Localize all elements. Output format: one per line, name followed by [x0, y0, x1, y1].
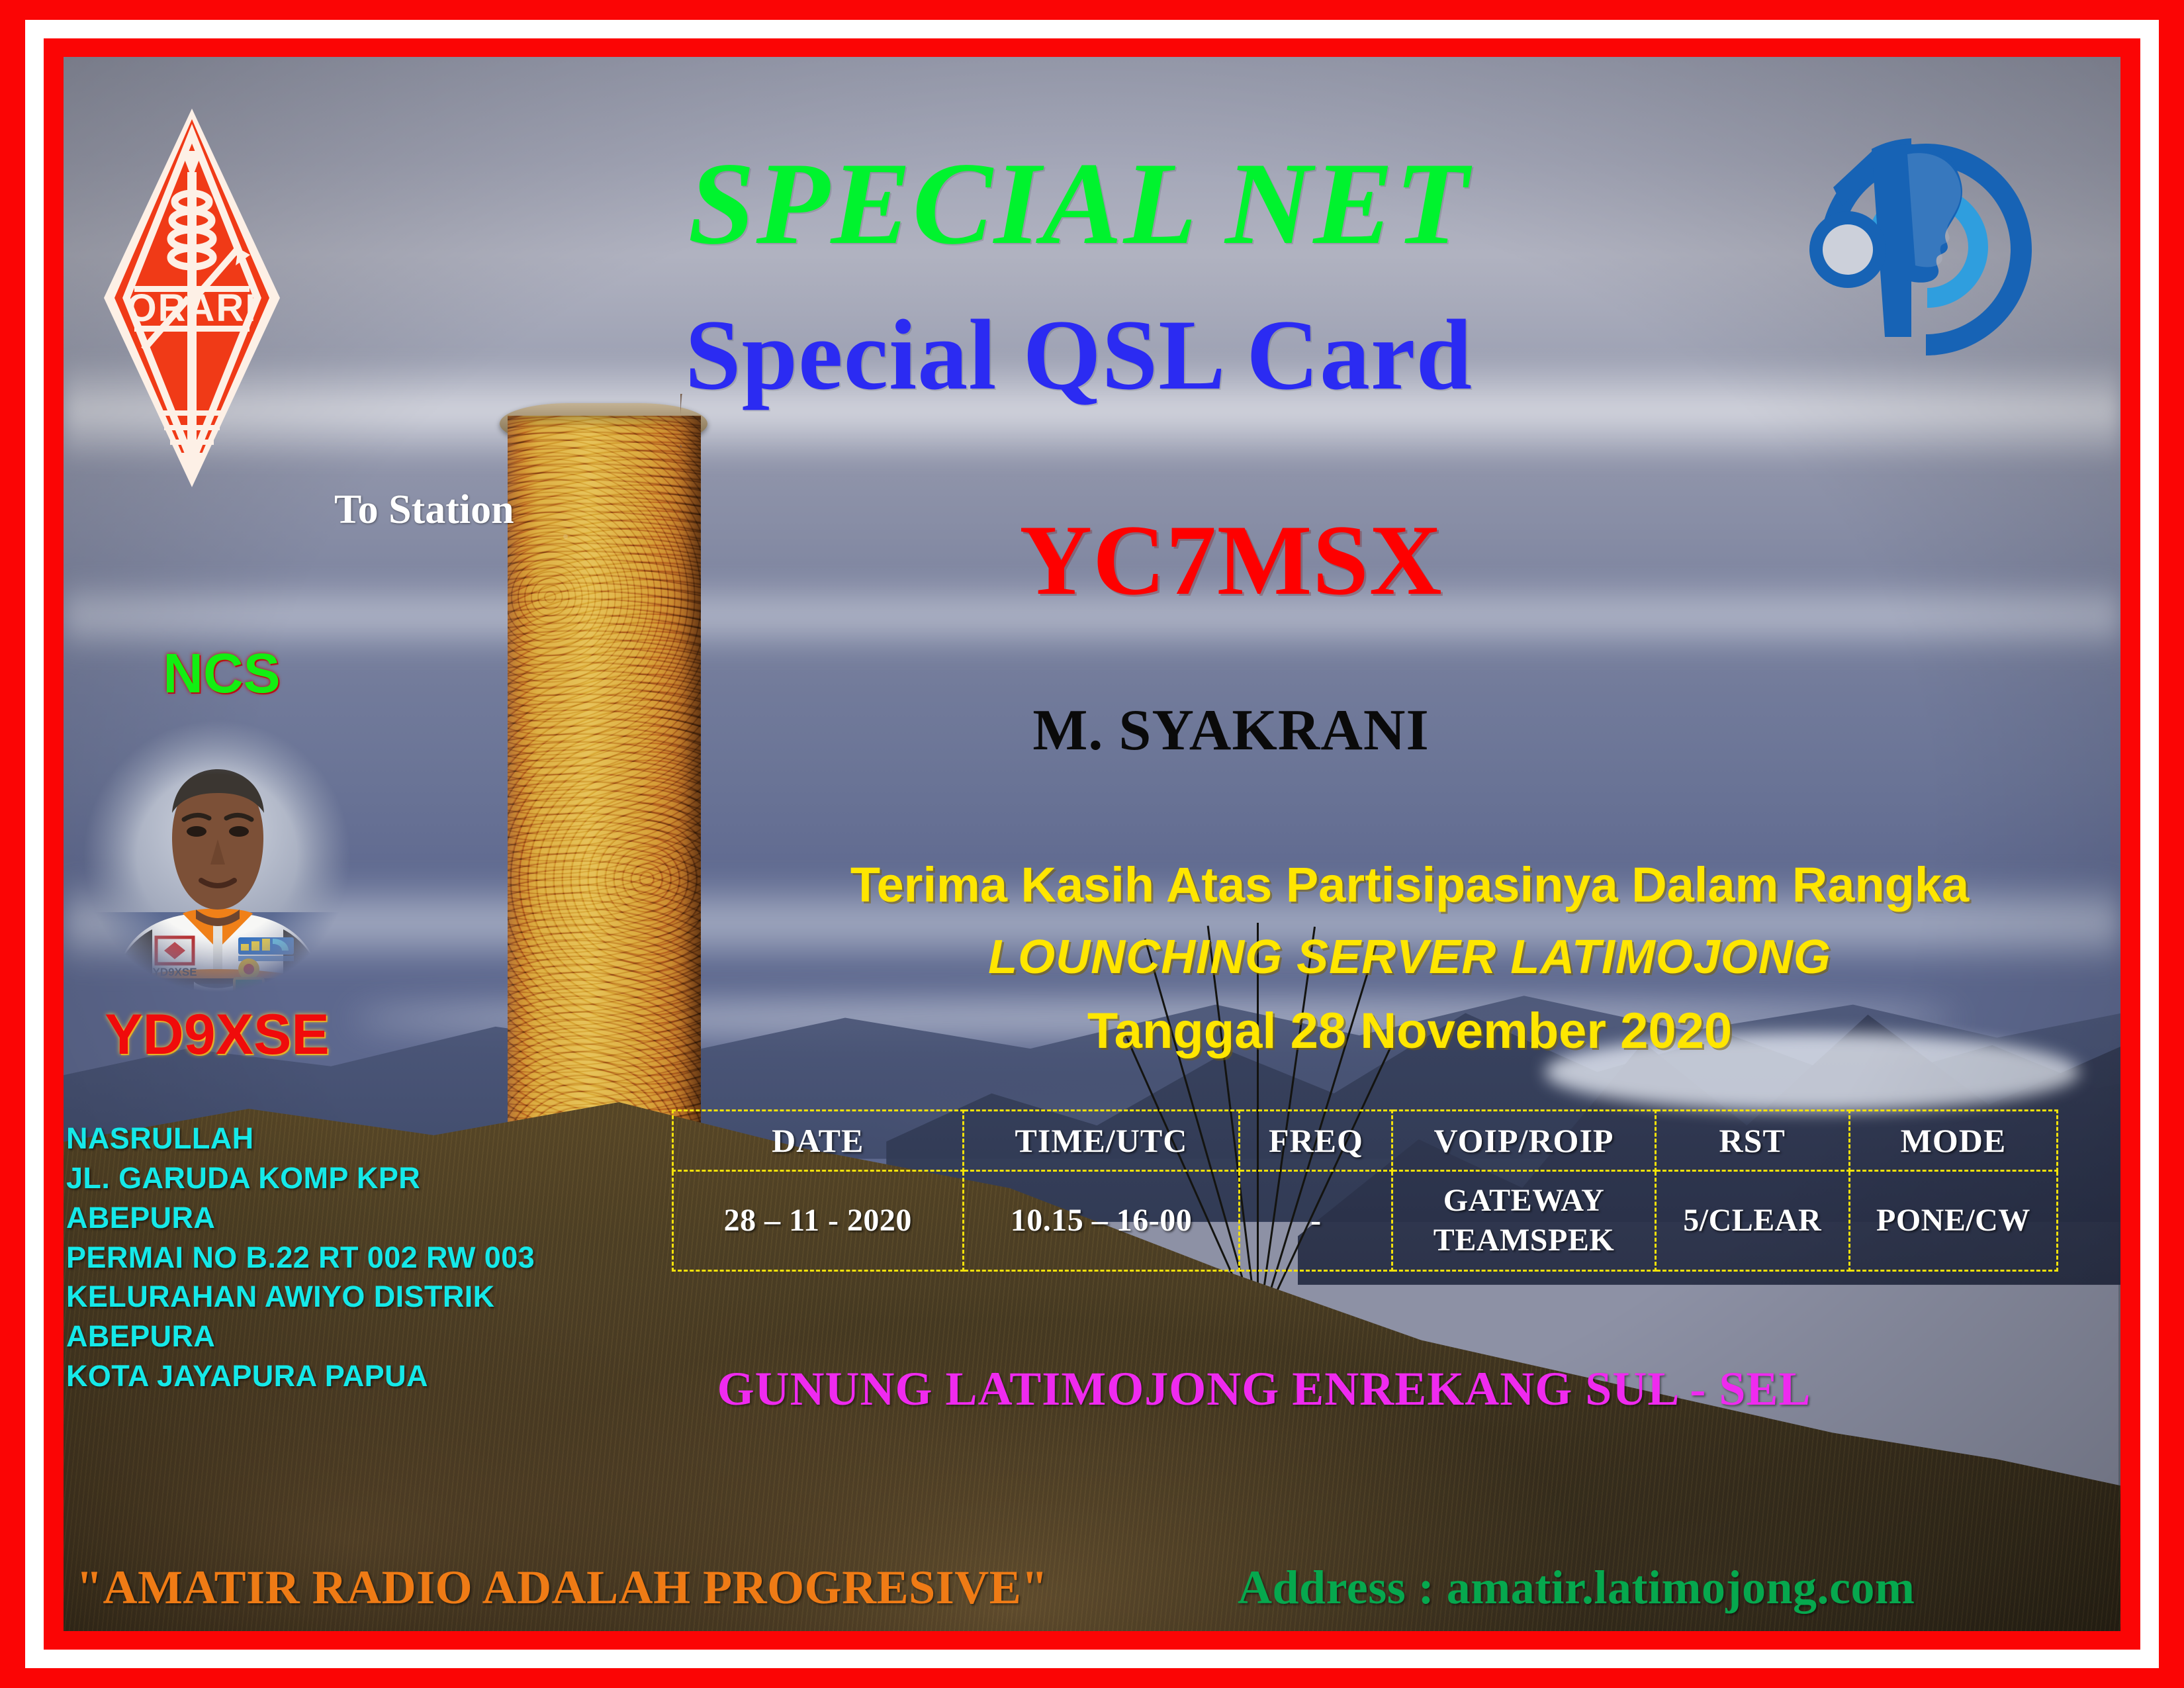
- station-callsign: YC7MSX: [913, 510, 1549, 610]
- address-line: ABEPURA: [66, 1317, 609, 1356]
- table-row: 28 – 11 - 2020 10.15 – 16-00 - GATEWAYTE…: [673, 1171, 2058, 1271]
- cell-voip-roip: GATEWAYTEAMSPEK: [1392, 1171, 1655, 1271]
- column-header-mode: MODE: [1849, 1111, 2057, 1171]
- table-header-row: DATE TIME/UTC FREQ VOIP/ROIP RST MODE: [673, 1111, 2058, 1171]
- operator-name: M. SYAKRANI: [913, 702, 1549, 760]
- to-station-label: To Station: [334, 487, 514, 534]
- headset-profile-soundwave-icon: [1794, 103, 2058, 367]
- orari-diamond-antenna-icon: ORARI: [96, 99, 288, 496]
- cell-freq: -: [1240, 1171, 1392, 1271]
- page-subtitle: Special QSL Card: [457, 305, 1701, 405]
- event-thanks-line: Terima Kasih Atas Partisipasinya Dalam R…: [761, 861, 2058, 910]
- page-title: SPECIAL NET: [437, 144, 1720, 262]
- address-line: JL. GARUDA KOMP KPR: [66, 1158, 609, 1198]
- address-line: KOTA JAYAPURA PAPUA: [66, 1356, 609, 1396]
- address-line: NASRULLAH: [66, 1119, 609, 1158]
- return-address-block: NASRULLAH JL. GARUDA KOMP KPR ABEPURA PE…: [66, 1119, 609, 1396]
- column-header-date: DATE: [673, 1111, 964, 1171]
- cell-rst: 5/CLEAR: [1655, 1171, 1849, 1271]
- address-line: ABEPURA: [66, 1198, 609, 1238]
- footer-motto: "AMATIR RADIO ADALAH PROGRESIVE": [76, 1564, 1048, 1611]
- address-line: PERMAI NO B.22 RT 002 RW 003: [66, 1238, 609, 1278]
- avatar: YD9XSE: [71, 714, 363, 998]
- ncs-callsign: YD9XSE: [71, 1006, 363, 1063]
- location-caption: GUNUNG LATIMOJONG ENREKANG SUL - SEL: [635, 1365, 1893, 1413]
- svg-text:YD9XSE: YD9XSE: [152, 966, 197, 978]
- column-header-freq: FREQ: [1240, 1111, 1392, 1171]
- cell-date: 28 – 11 - 2020: [673, 1171, 964, 1271]
- column-header-rst: RST: [1655, 1111, 1849, 1171]
- cell-mode: PONE/CW: [1849, 1171, 2057, 1271]
- qsl-card: ORARI SPECIAL NET: [0, 0, 2184, 1688]
- footer-address: Address : amatir.latimojong.com: [1238, 1564, 1915, 1611]
- event-name: LOUNCHING SERVER LATIMOJONG: [761, 933, 2058, 981]
- column-header-voip: VOIP/ROIP: [1392, 1111, 1655, 1171]
- qso-log-table: DATE TIME/UTC FREQ VOIP/ROIP RST MODE 28…: [672, 1109, 2058, 1272]
- svg-text:ORARI: ORARI: [127, 287, 257, 330]
- card-content-layer: ORARI SPECIAL NET: [0, 0, 2184, 1688]
- event-date: Tanggal 28 November 2020: [761, 1006, 2058, 1056]
- address-line: KELURAHAN AWIYO DISTRIK: [66, 1277, 609, 1317]
- cell-time: 10.15 – 16-00: [963, 1171, 1240, 1271]
- ncs-role-label: NCS: [136, 645, 308, 701]
- column-header-time: TIME/UTC: [963, 1111, 1240, 1171]
